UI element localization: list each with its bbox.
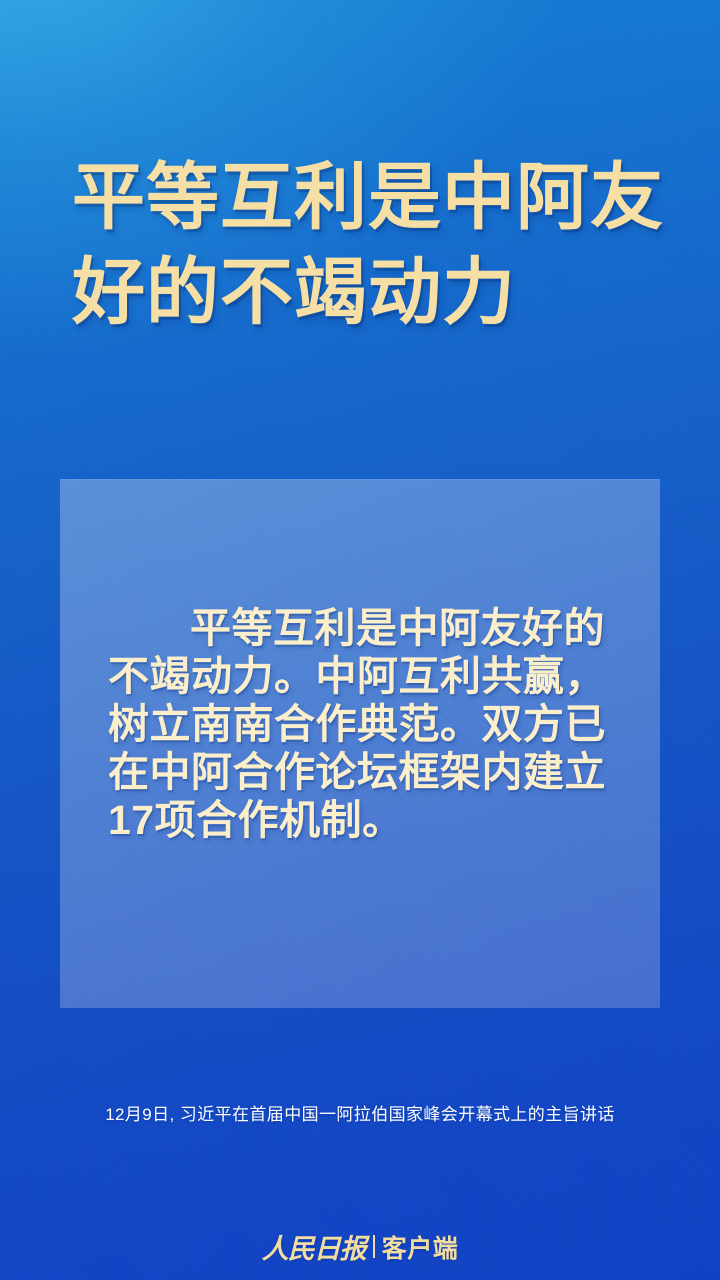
brand-logo: 人民日报 客户端 — [0, 1227, 720, 1266]
quote-card: 平等互利是中阿友好的不竭动力。中阿互利共赢，树立南南合作典范。双方已在中阿合作论… — [60, 479, 660, 1008]
page-title: 平等互利是中阿友好的不竭动力 — [72, 150, 672, 340]
peoples-daily-wordmark: 人民日报 — [262, 1227, 366, 1266]
brand-app-label: 客户端 — [382, 1229, 459, 1265]
quote-text: 平等互利是中阿友好的不竭动力。中阿互利共赢，树立南南合作典范。双方已在中阿合作论… — [108, 604, 620, 844]
poster-canvas: 平等互利是中阿友好的不竭动力 平等互利是中阿友好的不竭动力。中阿互利共赢，树立南… — [0, 0, 720, 1280]
source-caption: 12月9日, 习近平在首届中国一阿拉伯国家峰会开幕式上的主旨讲话 — [0, 1100, 720, 1125]
brand-divider — [373, 1235, 375, 1258]
